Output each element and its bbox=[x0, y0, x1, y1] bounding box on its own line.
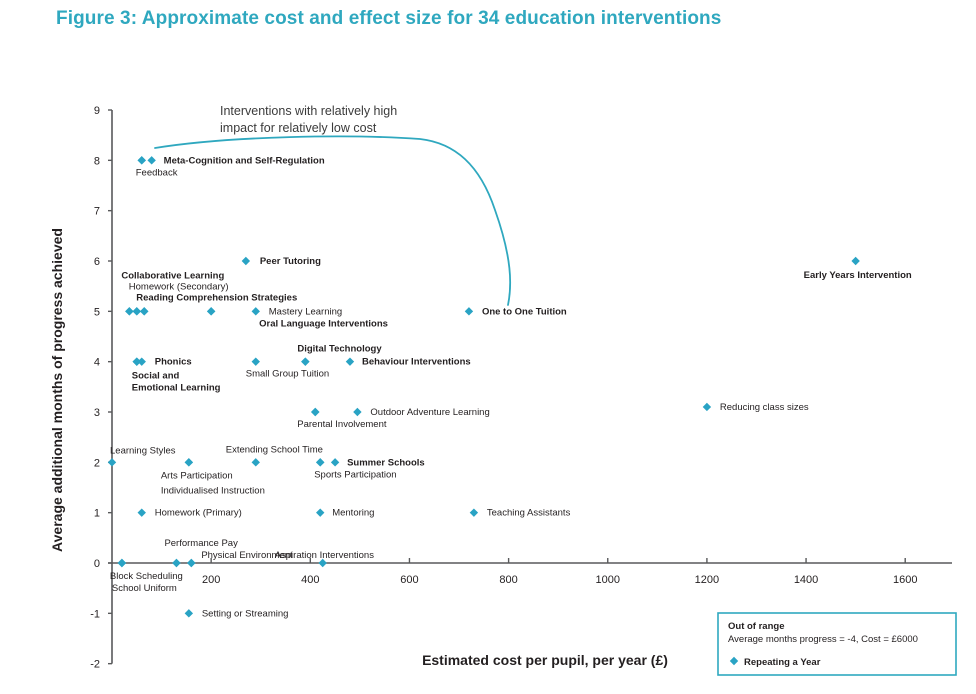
x-axis-title: Estimated cost per pupil, per year (£) bbox=[422, 652, 668, 668]
annotation-line-1: Interventions with relatively high bbox=[220, 104, 397, 118]
data-point-label: Reducing class sizes bbox=[720, 402, 809, 413]
data-point-label: One to One Tuition bbox=[482, 306, 567, 317]
data-point-marker bbox=[252, 357, 260, 365]
data-point-label: Small Group Tuition bbox=[246, 369, 329, 380]
data-point-marker bbox=[242, 257, 250, 265]
out-of-range-legend: Out of rangeAverage months progress = -4… bbox=[718, 613, 956, 675]
data-point-marker bbox=[185, 458, 193, 466]
data-point-label: Early Years Intervention bbox=[804, 270, 912, 281]
scatter-chart: -2-1012345678920040060080010001200140016… bbox=[0, 0, 976, 694]
data-point-marker bbox=[140, 307, 148, 315]
y-tick-label: 4 bbox=[94, 357, 100, 369]
data-point-marker bbox=[465, 307, 473, 315]
data-points: Meta-Cognition and Self-RegulationFeedba… bbox=[108, 155, 912, 619]
data-point-label: Setting or Streaming bbox=[202, 608, 289, 619]
data-point-marker bbox=[185, 609, 193, 617]
data-point-label: Homework (Primary) bbox=[155, 508, 242, 519]
data-point-label: Parental Involvement bbox=[297, 419, 387, 430]
data-point-marker bbox=[187, 559, 195, 567]
y-tick-label: 7 bbox=[94, 206, 100, 218]
data-point-label: Aspiration Interventions bbox=[275, 550, 375, 561]
data-point-marker bbox=[311, 408, 319, 416]
y-tick-label: -2 bbox=[90, 659, 100, 671]
data-point-marker bbox=[316, 508, 324, 516]
data-point-label: Teaching Assistants bbox=[487, 508, 571, 519]
data-point-label: Mastery Learning bbox=[269, 306, 342, 317]
data-point-marker bbox=[331, 458, 339, 466]
data-point-label: Extending School Time bbox=[226, 444, 323, 455]
y-tick-label: 8 bbox=[94, 155, 100, 167]
legend-marker-icon bbox=[730, 657, 738, 665]
data-point-label: Social and bbox=[132, 371, 180, 382]
data-point-label: Summer Schools bbox=[347, 457, 425, 468]
annotation-line-2: impact for relatively low cost bbox=[220, 121, 377, 135]
data-point-label: Block Scheduling bbox=[110, 571, 183, 582]
data-point-marker bbox=[125, 307, 133, 315]
data-point-marker bbox=[118, 559, 126, 567]
data-point-label: Homework (Secondary) bbox=[129, 281, 229, 292]
data-point-marker bbox=[353, 408, 361, 416]
y-tick-label: 3 bbox=[94, 407, 100, 419]
data-point-marker bbox=[470, 508, 478, 516]
data-point-marker bbox=[138, 156, 146, 164]
legend-item-label: Repeating a Year bbox=[744, 657, 821, 668]
y-tick-label: 1 bbox=[94, 508, 100, 520]
data-point-marker bbox=[138, 508, 146, 516]
y-tick-label: 2 bbox=[94, 457, 100, 469]
data-point-marker bbox=[133, 357, 141, 365]
chart-plot-area: -2-1012345678920040060080010001200140016… bbox=[0, 0, 976, 694]
y-tick-label: -1 bbox=[90, 608, 100, 620]
data-point-marker bbox=[316, 458, 324, 466]
y-tick-label: 5 bbox=[94, 306, 100, 318]
data-point-label: Behaviour Interventions bbox=[362, 357, 471, 368]
data-point-label: Phonics bbox=[155, 357, 192, 368]
x-tick-label: 1000 bbox=[596, 574, 620, 586]
y-tick-label: 0 bbox=[94, 558, 100, 570]
data-point-marker bbox=[108, 458, 116, 466]
data-point-marker bbox=[207, 307, 215, 315]
data-point-label: Mentoring bbox=[332, 508, 374, 519]
data-point-label: Peer Tutoring bbox=[260, 256, 321, 267]
x-tick-label: 200 bbox=[202, 574, 220, 586]
x-tick-label: 1400 bbox=[794, 574, 818, 586]
data-point-label: Oral Language Interventions bbox=[259, 318, 388, 329]
x-tick-label: 1600 bbox=[893, 574, 917, 586]
y-tick-label: 6 bbox=[94, 256, 100, 268]
data-point-label: Digital Technology bbox=[297, 344, 382, 355]
data-point-marker bbox=[147, 156, 155, 164]
data-point-marker bbox=[851, 257, 859, 265]
data-point-label: Sports Participation bbox=[314, 469, 396, 480]
data-point-label: School Uniform bbox=[112, 583, 177, 594]
x-tick-label: 800 bbox=[499, 574, 517, 586]
y-tick-label: 9 bbox=[94, 105, 100, 117]
data-point-label: Outdoor Adventure Learning bbox=[370, 407, 489, 418]
data-point-label: Emotional Learning bbox=[132, 383, 221, 394]
x-tick-label: 1200 bbox=[695, 574, 719, 586]
data-point-label: Collaborative Learning bbox=[121, 270, 224, 281]
x-tick-label: 600 bbox=[400, 574, 418, 586]
data-point-label: Feedback bbox=[136, 167, 178, 178]
data-point-label: Performance Pay bbox=[164, 538, 238, 549]
data-point-label: Reading Comprehension Strategies bbox=[136, 292, 297, 303]
legend-subtitle: Average months progress = -4, Cost = £60… bbox=[728, 634, 918, 645]
data-point-label: Individualised Instruction bbox=[161, 485, 265, 496]
x-tick-label: 400 bbox=[301, 574, 319, 586]
data-point-label: Meta-Cognition and Self-Regulation bbox=[164, 155, 325, 166]
data-point-marker bbox=[703, 403, 711, 411]
data-point-label: Learning Styles bbox=[110, 445, 176, 456]
data-point-marker bbox=[346, 357, 354, 365]
data-point-marker bbox=[252, 307, 260, 315]
data-point-label: Arts Participation bbox=[161, 470, 233, 481]
legend-title: Out of range bbox=[728, 621, 784, 632]
data-point-marker bbox=[252, 458, 260, 466]
data-point-marker bbox=[301, 357, 309, 365]
data-point-marker bbox=[172, 559, 180, 567]
data-point-marker bbox=[133, 307, 141, 315]
y-axis-title: Average additional months of progress ac… bbox=[49, 228, 65, 552]
